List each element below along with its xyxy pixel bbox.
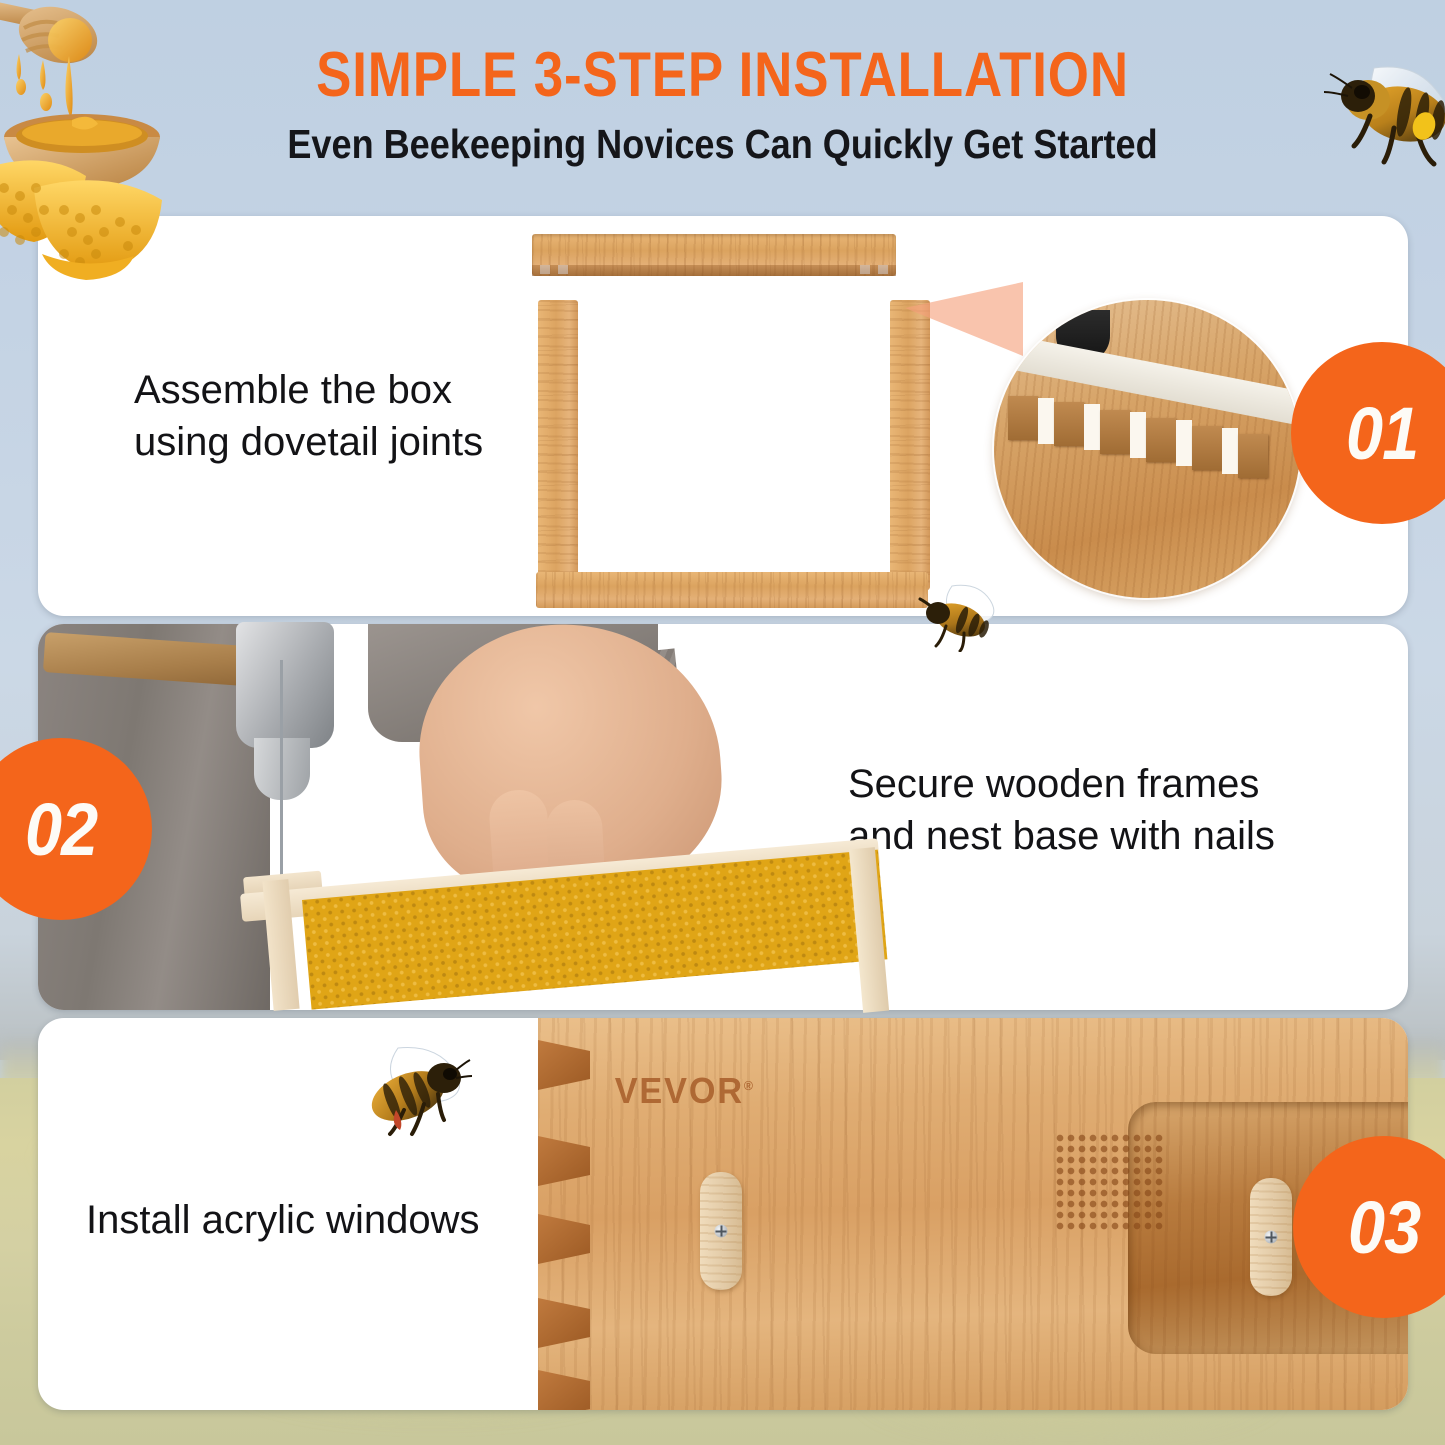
screw-icon bbox=[1265, 1231, 1278, 1244]
page-subtitle: Even Beekeeping Novices Can Quickly Get … bbox=[87, 121, 1359, 168]
hive-box-top-rail bbox=[532, 234, 896, 276]
trademark-symbol: ® bbox=[744, 1078, 755, 1093]
brand-logo: VEVOR® bbox=[615, 1070, 755, 1112]
brand-name: VEVOR bbox=[615, 1070, 744, 1111]
step-1-text: Assemble the box using dovetail joints bbox=[134, 364, 564, 468]
infographic-stage: SIMPLE 3-STEP INSTALLATION Even Beekeepi… bbox=[0, 0, 1445, 1445]
step-2-text: Secure wooden frames and nest base with … bbox=[848, 758, 1368, 862]
step-3-text: Install acrylic windows bbox=[86, 1194, 556, 1246]
bee-top-right bbox=[1318, 52, 1445, 172]
hive-box-left-rail bbox=[538, 300, 578, 590]
nail bbox=[280, 660, 283, 910]
turn-button-right[interactable] bbox=[1250, 1178, 1292, 1296]
step-3-line-1: Install acrylic windows bbox=[86, 1194, 556, 1246]
step-2-line-2: and nest base with nails bbox=[848, 810, 1368, 862]
hammer-head bbox=[236, 622, 334, 748]
page-title: SIMPLE 3-STEP INSTALLATION bbox=[116, 44, 1330, 107]
step-panel-3[interactable]: VEVOR® Install acrylic windows bbox=[38, 1018, 1408, 1410]
screw-icon bbox=[715, 1225, 728, 1238]
hive-side-board: VEVOR® bbox=[538, 1018, 1408, 1410]
bee-between-panels bbox=[916, 580, 1000, 652]
step-2-line-1: Secure wooden frames bbox=[848, 758, 1368, 810]
ventilation-mesh bbox=[1055, 1133, 1165, 1233]
turn-button-left[interactable] bbox=[700, 1172, 742, 1290]
honey-cluster-decoration bbox=[0, 0, 236, 292]
step-1-line-2: using dovetail joints bbox=[134, 416, 564, 468]
step-1-line-1: Assemble the box bbox=[134, 364, 564, 416]
step-badge-3-number: 03 bbox=[1348, 1185, 1420, 1270]
step-badge-1-number: 01 bbox=[1346, 391, 1418, 476]
dovetail-closeup-magnifier bbox=[994, 300, 1300, 598]
bee-panel-3 bbox=[356, 1044, 472, 1148]
step-badge-2-number: 02 bbox=[25, 787, 97, 872]
hive-box-bottom-rail bbox=[536, 572, 928, 608]
